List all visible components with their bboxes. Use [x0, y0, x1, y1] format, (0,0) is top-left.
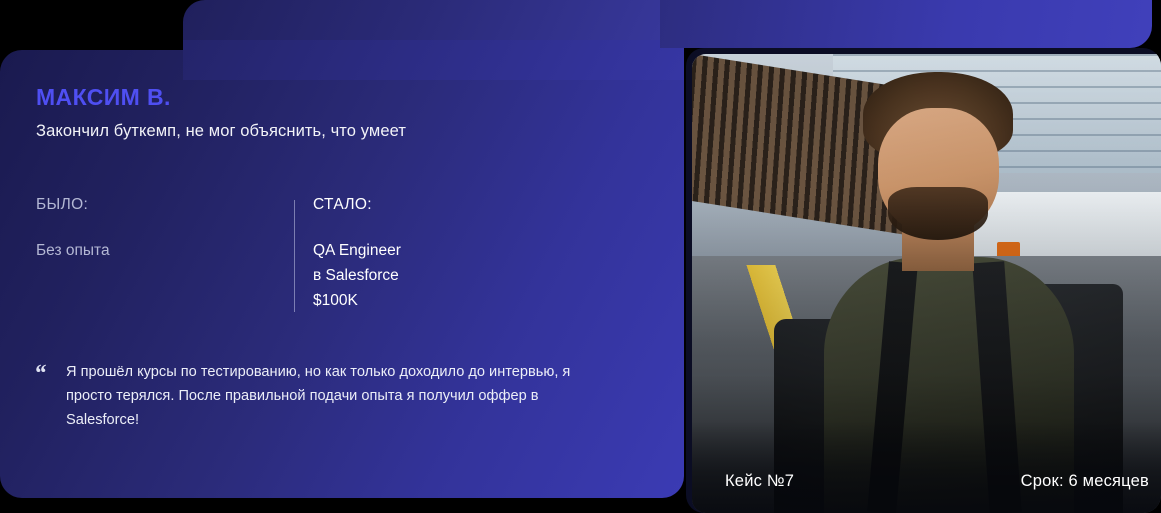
- before-after-block: БЫЛО: Без опыта СТАЛО: QA Engineer в Sal…: [36, 196, 654, 326]
- photo-frame: Кейс №7 Срок: 6 месяцев: [692, 54, 1161, 513]
- testimonial-quote: “ Я прошёл курсы по тестированию, но как…: [34, 360, 596, 432]
- quote-text: Я прошёл курсы по тестированию, но как т…: [66, 360, 596, 432]
- after-heading: СТАЛО:: [313, 196, 401, 214]
- after-value-role: QA Engineer: [313, 238, 401, 263]
- case-number-label: Кейс №7: [725, 472, 794, 491]
- photo-caption-overlay: [692, 421, 1161, 513]
- duration-label: Срок: 6 месяцев: [1021, 472, 1149, 491]
- before-column: БЫЛО: Без опыта: [36, 196, 262, 263]
- photo-card: Кейс №7 Срок: 6 месяцев: [686, 48, 1161, 513]
- after-column: СТАЛО: QA Engineer в Salesforce $100K: [313, 196, 401, 313]
- after-value-company: в Salesforce: [313, 263, 401, 288]
- photo-card-tab: [660, 0, 1152, 48]
- before-heading: БЫЛО:: [36, 196, 262, 214]
- person-name: МАКСИМ В.: [36, 84, 171, 111]
- before-value: Без опыта: [36, 238, 262, 263]
- testimonial-card: МАКСИМ В. Закончил буткемп, не мог объяс…: [0, 0, 684, 498]
- testimonial-content: МАКСИМ В. Закончил буткемп, не мог объяс…: [0, 50, 684, 498]
- after-value-salary: $100K: [313, 288, 401, 313]
- person-subtitle: Закончил буткемп, не мог объяснить, что …: [36, 122, 406, 141]
- quote-mark-icon: “: [34, 362, 46, 386]
- before-after-divider: [294, 200, 295, 312]
